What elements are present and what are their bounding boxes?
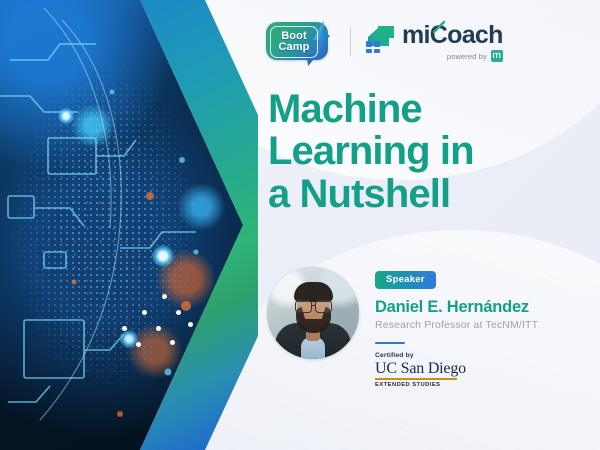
page-title: Machine Learning in a Nutshell <box>268 88 568 215</box>
ucsd-sublabel: EXTENDED STUDIES <box>375 382 538 388</box>
presentation-banner: Boot Camp <box>0 0 600 450</box>
bootcamp-wordmark: Boot Camp <box>270 26 318 58</box>
dot-matrix-decoration <box>118 292 208 372</box>
speaker-info: Speaker Daniel E. Hernández Research Pro… <box>375 267 538 388</box>
status-badge: Speaker <box>375 271 436 289</box>
avatar <box>267 267 359 359</box>
avatar-hair <box>294 282 333 302</box>
speaker-role: Research Professor at TecNM/ITT <box>375 319 538 331</box>
bootcamp-logo[interactable]: Boot Camp <box>266 20 336 64</box>
speaker-name: Daniel E. Hernández <box>375 298 538 317</box>
powered-by-label: powered by <box>447 52 487 61</box>
artwork-panel <box>0 0 258 450</box>
c-swoosh-icon <box>433 21 446 34</box>
title-line-3: a Nutshell <box>268 173 568 215</box>
logo-row: Boot Camp <box>266 20 503 64</box>
section-divider <box>375 342 405 344</box>
micoach-name-part1: mi <box>402 23 430 48</box>
micoach-wordmark: mi C oach powered by ITI <box>402 22 503 62</box>
micoach-name-c: C <box>430 23 447 48</box>
avatar-glasses <box>294 300 333 311</box>
ucsd-underline <box>375 378 457 380</box>
powered-by-row: powered by ITI <box>402 50 503 62</box>
iti-mark-icon: ITI <box>491 50 503 62</box>
micoach-name-part3: oach <box>447 23 503 48</box>
speaker-block: Speaker Daniel E. Hernández Research Pro… <box>267 267 538 388</box>
title-line-2: Learning in <box>268 130 568 172</box>
circuit-glow-node <box>58 108 74 124</box>
micoach-logo[interactable]: mi C oach powered by ITI <box>365 22 503 62</box>
house-arrow-icon <box>365 25 395 53</box>
certified-by-label: Certified by <box>375 352 538 359</box>
circuit-glow-node <box>152 245 174 267</box>
ucsd-logo-text: UC San Diego <box>375 361 538 377</box>
bootcamp-line-2: Camp <box>279 42 310 53</box>
title-line-1: Machine <box>268 88 568 130</box>
logo-divider <box>350 27 351 57</box>
